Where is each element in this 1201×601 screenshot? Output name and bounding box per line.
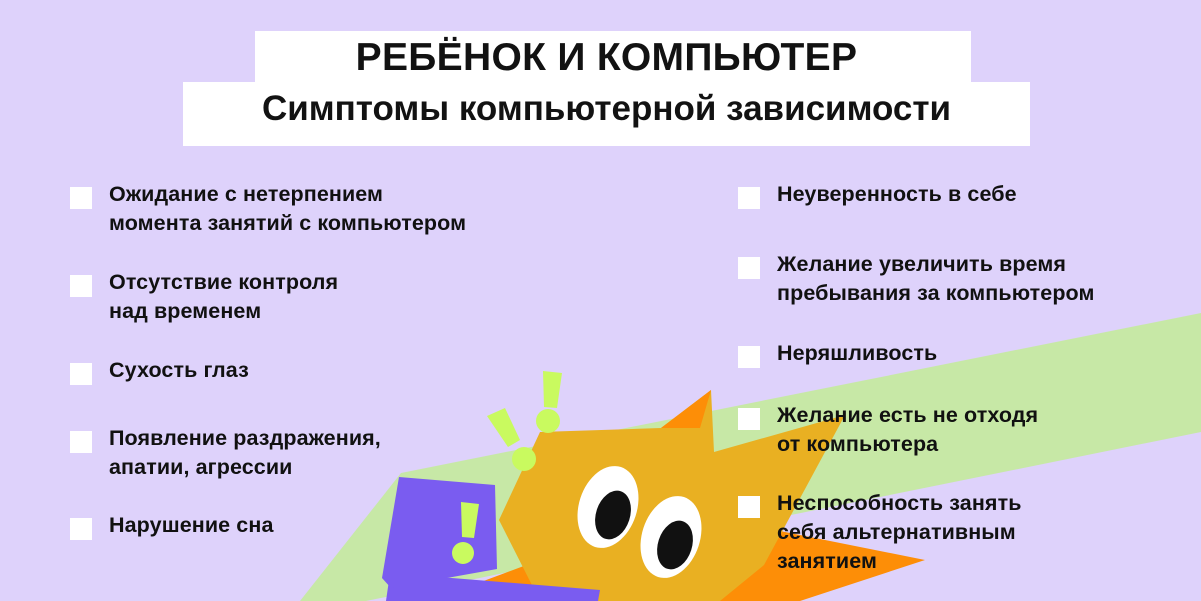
character-accent-tip-icon [661,390,711,428]
list-item: Желание увеличить время пребывания за ко… [738,250,1188,308]
square-bullet-icon [70,187,92,209]
square-bullet-icon [70,431,92,453]
list-item: Неряшливость [738,339,1188,368]
list-item-label: Неряшливость [777,339,937,368]
square-bullet-icon [738,346,760,368]
list-item-label: Желание увеличить время пребывания за ко… [777,250,1095,308]
square-bullet-icon [70,363,92,385]
list-item-label: Нарушение сна [109,511,274,540]
square-bullet-icon [70,518,92,540]
list-item: Неуверенность в себе [738,180,1188,209]
square-bullet-icon [738,187,760,209]
list-item: Появление раздражения, апатии, агрессии [70,424,540,482]
square-bullet-icon [738,496,760,518]
list-item: Отсутствие контроля над временем [70,268,540,326]
list-item-label: Появление раздражения, апатии, агрессии [109,424,381,482]
list-item: Нарушение сна [70,511,540,540]
list-item-label: Неуверенность в себе [777,180,1017,209]
list-item: Сухость глаз [70,356,540,385]
laptop-base-icon [386,573,600,601]
square-bullet-icon [70,275,92,297]
poster-canvas: РЕБЁНОК И КОМПЬЮТЕР Симптомы компьютерно… [0,0,1201,601]
list-item-label: Сухость глаз [109,356,249,385]
list-item: Ожидание с нетерпением момента занятий с… [70,180,540,238]
list-item-label: Желание есть не отходя от компьютера [777,401,1038,459]
list-item-label: Отсутствие контроля над временем [109,268,338,326]
character-eyes-icon [567,458,711,586]
list-item: Неспособность занять себя альтернативным… [738,489,1188,576]
list-item-label: Ожидание с нетерпением момента занятий с… [109,180,466,238]
symptom-list-left: Ожидание с нетерпением момента занятий с… [70,180,540,540]
square-bullet-icon [738,257,760,279]
title-block: РЕБЁНОК И КОМПЬЮТЕР Симптомы компьютерно… [0,0,1201,150]
square-bullet-icon [738,408,760,430]
symptom-list-right: Неуверенность в себе Желание увеличить в… [738,180,1188,576]
list-item: Желание есть не отходя от компьютера [738,401,1188,459]
page-subtitle: Симптомы компьютерной зависимости [183,88,1030,130]
list-item-label: Неспособность занять себя альтернативным… [777,489,1022,576]
page-title: РЕБЁНОК И КОМПЬЮТЕР [183,36,1030,80]
